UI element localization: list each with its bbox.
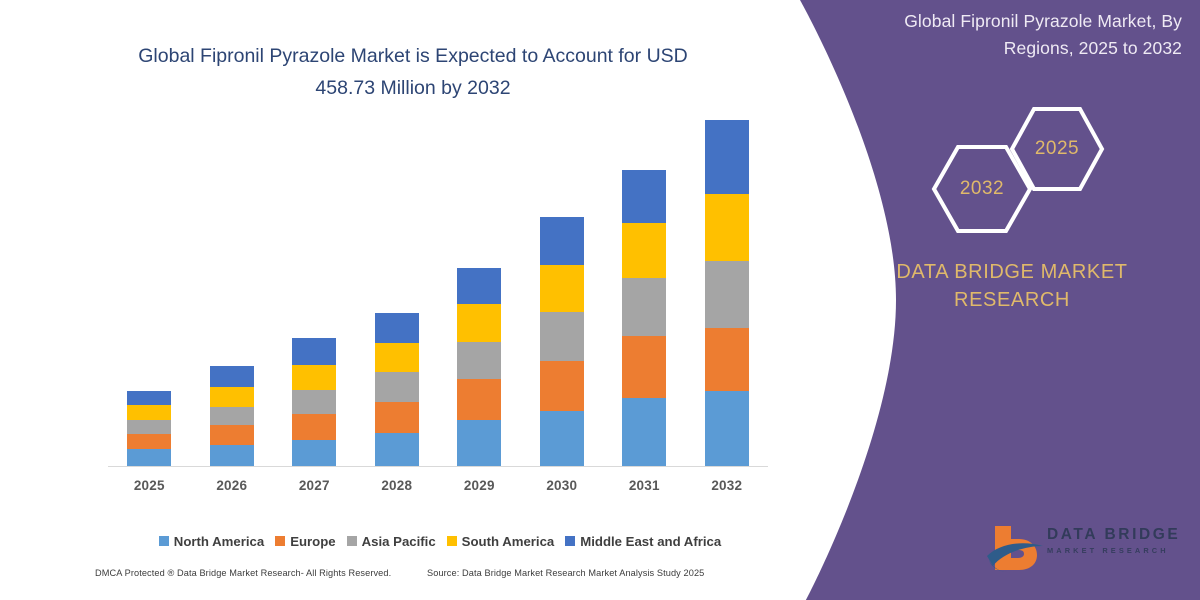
logo-sub-text: MARKET RESEARCH — [1047, 544, 1187, 558]
bar-segment — [705, 328, 749, 391]
bar-segment — [540, 411, 584, 466]
bar-segment — [540, 217, 584, 265]
brand-name: DATA BRIDGE MARKET RESEARCH — [842, 258, 1182, 314]
footer-source: Source: Data Bridge Market Research Mark… — [427, 568, 704, 578]
legend-item[interactable]: North America — [159, 534, 264, 549]
bar-group — [705, 120, 749, 466]
x-axis-tick-label: 2029 — [444, 478, 514, 493]
x-axis-tick-label: 2027 — [279, 478, 349, 493]
bar-segment — [457, 420, 501, 466]
bar-segment — [457, 379, 501, 420]
logo-main-text: DATA BRIDGE — [1047, 526, 1187, 544]
company-logo: DATA BRIDGE MARKET RESEARCH — [985, 522, 1185, 578]
bar-group — [292, 338, 336, 466]
x-axis-tick-label: 2025 — [114, 478, 184, 493]
bar-segment — [292, 390, 336, 414]
bar-segment — [127, 391, 171, 405]
x-axis-tick-label: 2030 — [527, 478, 597, 493]
bar-segment — [127, 449, 171, 466]
bar-segment — [457, 268, 501, 304]
bar-segment — [622, 398, 666, 466]
bar-segment — [375, 343, 419, 373]
footer: DMCA Protected ® Data Bridge Market Rese… — [95, 568, 785, 588]
bar-segment — [210, 387, 254, 407]
bar-segment — [375, 402, 419, 433]
bar-segment — [127, 420, 171, 434]
bar-segment — [292, 338, 336, 364]
bar-segment — [292, 414, 336, 439]
bar-segment — [210, 425, 254, 445]
bar-group — [540, 217, 584, 466]
legend-label: Europe — [290, 534, 335, 549]
legend-item[interactable]: South America — [447, 534, 555, 549]
bar-group — [622, 170, 666, 466]
x-axis-tick-label: 2032 — [692, 478, 762, 493]
chart-title: Global Fipronil Pyrazole Market is Expec… — [108, 40, 718, 104]
bar-segment — [375, 313, 419, 343]
bar-segment — [540, 312, 584, 362]
legend-label: North America — [174, 534, 264, 549]
bar-segment — [457, 304, 501, 341]
legend-swatch-icon — [347, 536, 357, 546]
legend-item[interactable]: Asia Pacific — [347, 534, 436, 549]
legend-label: Middle East and Africa — [580, 534, 721, 549]
bar-segment — [127, 434, 171, 449]
bar-segment — [622, 336, 666, 398]
bar-segment — [210, 366, 254, 387]
panel-title: Global Fipronil Pyrazole Market, By Regi… — [852, 8, 1182, 62]
x-axis-tick-label: 2028 — [362, 478, 432, 493]
chart-legend: North AmericaEuropeAsia PacificSouth Ame… — [108, 530, 772, 552]
legend-swatch-icon — [565, 536, 575, 546]
bar-group — [375, 313, 419, 466]
bar-segment — [127, 405, 171, 419]
bar-segment — [705, 194, 749, 261]
legend-label: South America — [462, 534, 555, 549]
legend-swatch-icon — [159, 536, 169, 546]
bar-segment — [622, 223, 666, 278]
footer-copyright: DMCA Protected ® Data Bridge Market Rese… — [95, 568, 391, 578]
bar-group — [457, 268, 501, 466]
bar-group — [210, 366, 254, 466]
right-panel: Global Fipronil Pyrazole Market, By Regi… — [800, 0, 1200, 600]
bar-segment — [375, 433, 419, 466]
bar-segment — [375, 372, 419, 402]
bar-segment — [210, 407, 254, 426]
bar-segment — [210, 445, 254, 466]
bar-segment — [705, 391, 749, 466]
data-bridge-logo-icon — [985, 522, 1047, 574]
bar-segment — [457, 342, 501, 379]
bar-segment — [540, 265, 584, 311]
chart-plot-area — [108, 120, 768, 466]
infographic-canvas: Global Fipronil Pyrazole Market, By Regi… — [0, 0, 1200, 600]
bar-segment — [292, 365, 336, 390]
logo-text: DATA BRIDGE MARKET RESEARCH — [1047, 526, 1187, 558]
bar-group — [127, 391, 171, 466]
x-axis-tick-label: 2026 — [197, 478, 267, 493]
hexagon-badge-end: 2032 — [930, 143, 1034, 235]
legend-item[interactable]: Europe — [275, 534, 335, 549]
bar-segment — [622, 278, 666, 336]
bar-segment — [540, 361, 584, 411]
x-axis-tick-label: 2031 — [609, 478, 679, 493]
legend-item[interactable]: Middle East and Africa — [565, 534, 721, 549]
legend-swatch-icon — [447, 536, 457, 546]
legend-swatch-icon — [275, 536, 285, 546]
hexagon-badges: 2025 2032 — [920, 105, 1120, 235]
x-axis-line — [108, 466, 768, 467]
hexagon-end-label: 2032 — [930, 143, 1034, 235]
legend-label: Asia Pacific — [362, 534, 436, 549]
bar-segment — [705, 261, 749, 328]
bar-segment — [705, 120, 749, 194]
bar-segment — [292, 440, 336, 466]
x-axis-labels: 20252026202720282029203020312032 — [108, 478, 768, 500]
bar-segment — [622, 170, 666, 223]
